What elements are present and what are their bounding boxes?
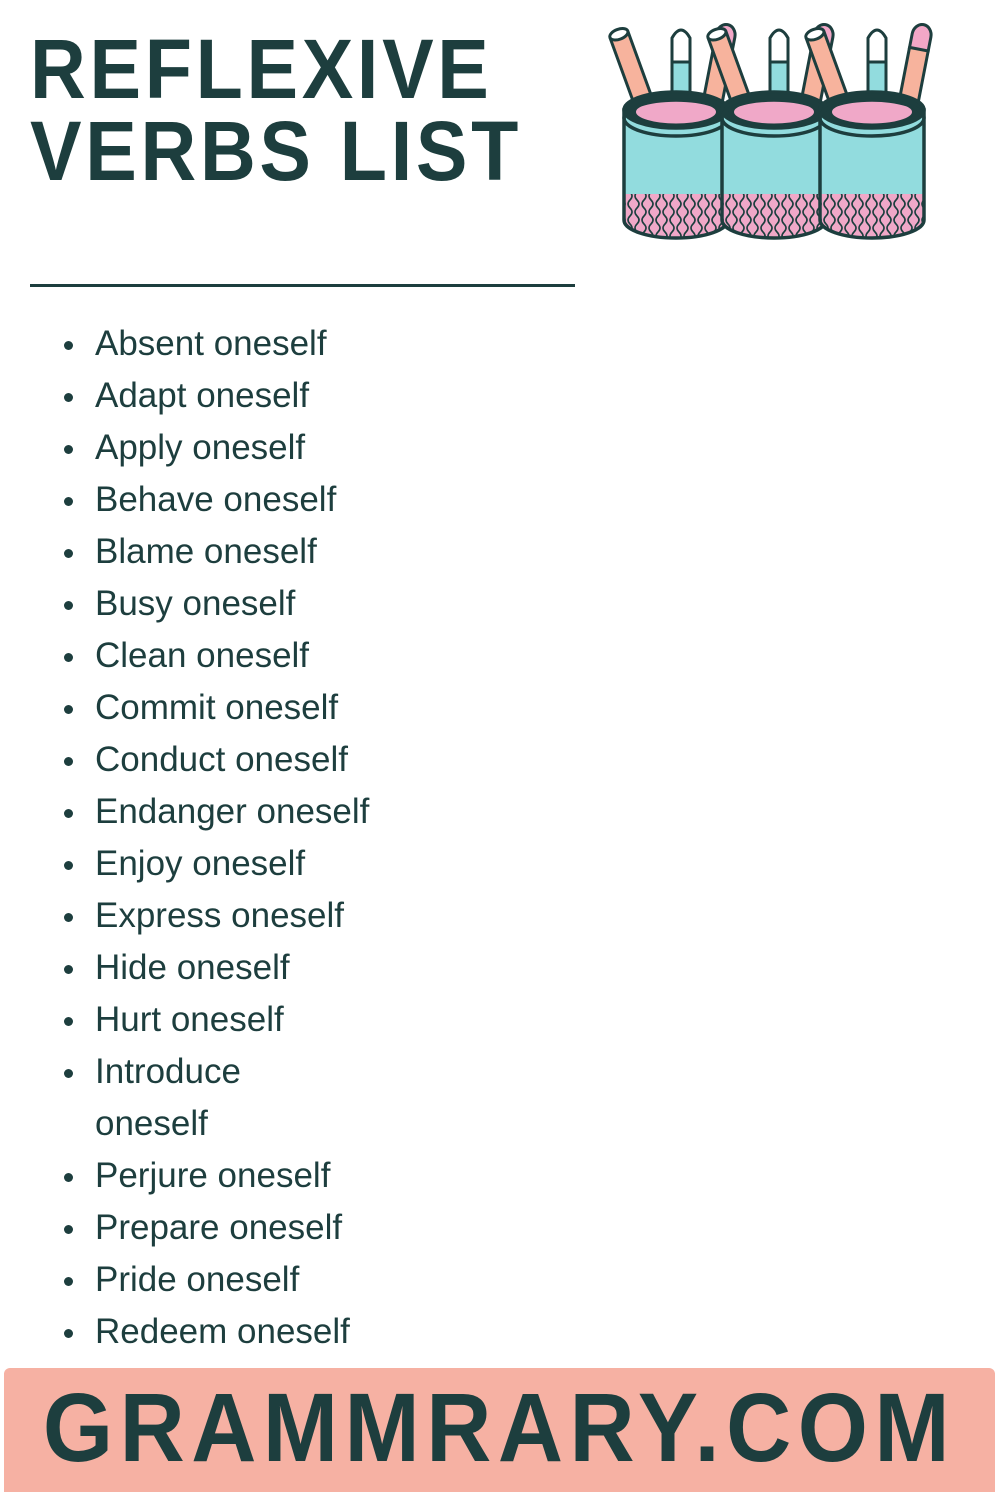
page-title: Reflexive Verbs List <box>30 28 545 193</box>
list-item: Absent oneself <box>46 318 566 370</box>
list-item: Perjure oneself <box>46 1150 566 1202</box>
list-item: Apply oneself <box>46 422 566 474</box>
list-item: Pride oneself <box>46 1254 566 1306</box>
list-item: Introduce oneself <box>46 1046 330 1150</box>
list-item: Hurt oneself <box>46 994 566 1046</box>
title-underline-rule <box>30 284 575 287</box>
list-item: Busy oneself <box>46 578 566 630</box>
footer-banner: GRAMMRARY.COM <box>4 1368 995 1492</box>
pencil-cups-icon <box>598 18 938 268</box>
list-item: Prepare oneself <box>46 1202 566 1254</box>
list-item: Hide oneself <box>46 942 566 994</box>
list-item: Blame oneself <box>46 526 566 578</box>
list-item: Express oneself <box>46 890 566 942</box>
list-item: Redeem oneself <box>46 1306 566 1358</box>
pencil-cups-illustration <box>598 18 938 268</box>
list-item: Commit oneself <box>46 682 566 734</box>
list-item: Enjoy oneself <box>46 838 566 890</box>
poster-canvas: Reflexive Verbs List <box>0 0 1000 1500</box>
list-item: Endanger oneself <box>46 786 566 838</box>
site-watermark: GRAMMRARY.COM <box>39 1374 961 1483</box>
list-item: Adapt oneself <box>46 370 566 422</box>
list-item: Behave oneself <box>46 474 566 526</box>
reflexive-verbs-list: Absent oneself Adapt oneself Apply onese… <box>46 318 566 1410</box>
title-block: Reflexive Verbs List <box>30 28 590 193</box>
list-item: Conduct oneself <box>46 734 566 786</box>
list-item: Clean oneself <box>46 630 566 682</box>
pencil-cup-3 <box>804 23 934 254</box>
